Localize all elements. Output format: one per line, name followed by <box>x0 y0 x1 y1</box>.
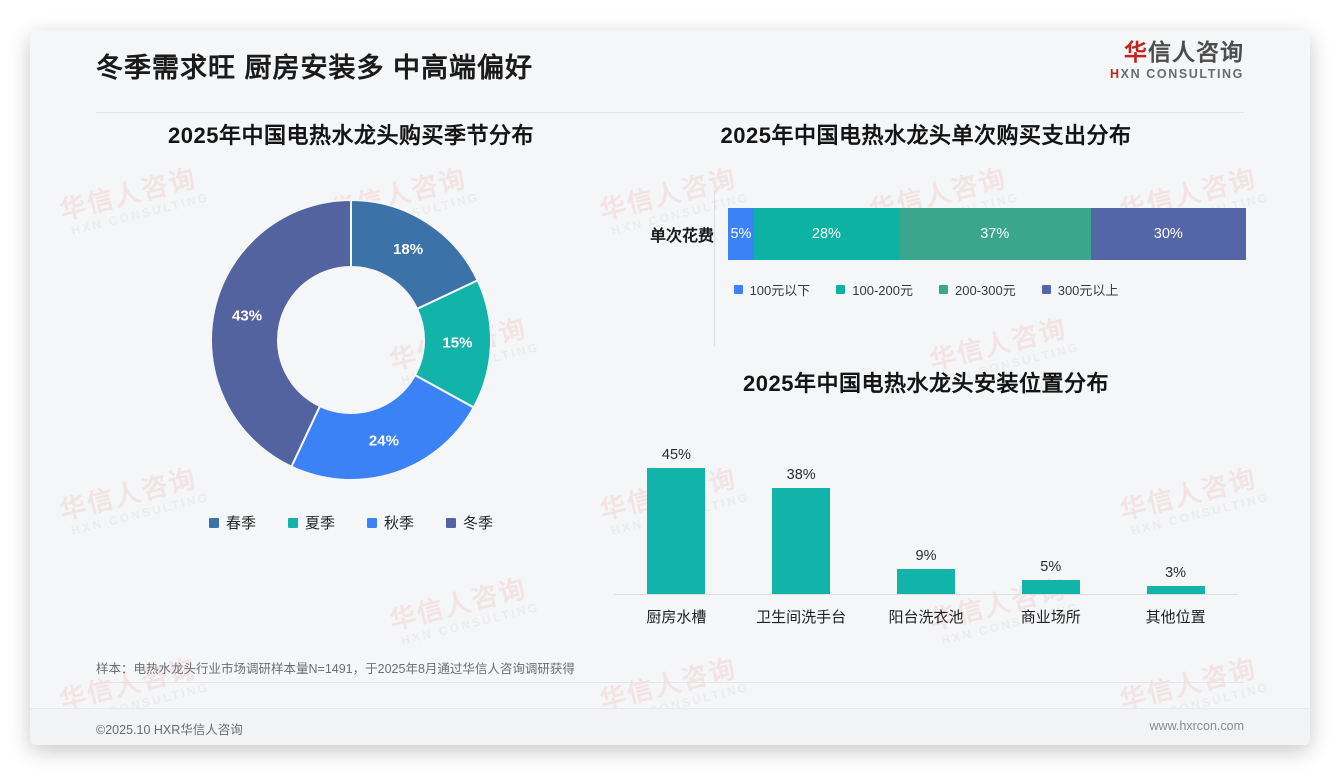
right-column: 2025年中国电热水龙头单次购买支出分布 单次花费 5%28%37%30% 10… <box>606 118 1246 619</box>
slide-body: 2025年中国电热水龙头购买季节分布 18%15%24%43% 春季夏季秋季冬季… <box>30 118 1310 745</box>
install-x-axis: 厨房水槽卫生间洗手台阳台洗衣池商业场所其他位置 <box>614 606 1238 627</box>
spend-bar-track: 5%28%37%30% <box>728 208 1246 260</box>
donut-svg: 18%15%24%43% <box>201 190 501 490</box>
legend-swatch <box>1042 285 1051 294</box>
bar-column-阳台洗衣池[interactable]: 9% <box>871 424 981 594</box>
legend-label: 秋季 <box>384 512 414 533</box>
donut-slice-label: 24% <box>369 432 399 449</box>
season-chart-title: 2025年中国电热水龙头购买季节分布 <box>96 118 606 150</box>
x-axis-label: 阳台洗衣池 <box>871 606 981 627</box>
legend-label: 夏季 <box>305 512 335 533</box>
bar-value-label: 38% <box>787 467 816 483</box>
legend-swatch <box>446 518 456 528</box>
legend-label: 200-300元 <box>955 280 1016 299</box>
donut-slice-label: 18% <box>393 241 423 258</box>
stack-segment-label: 5% <box>730 226 751 242</box>
website-link[interactable]: www.hxrcon.com <box>1150 719 1244 733</box>
bar-value-label: 45% <box>662 447 691 463</box>
stack-segment-label: 37% <box>980 226 1009 242</box>
spend-legend: 100元以下100-200元200-300元300元以上 <box>606 280 1246 299</box>
legend-swatch <box>734 285 743 294</box>
legend-item-春季[interactable]: 春季 <box>209 512 256 533</box>
logo-cn-red: 华 <box>1124 39 1148 65</box>
legend-label: 100元以下 <box>750 280 811 299</box>
x-axis-label: 其他位置 <box>1121 606 1231 627</box>
note-divider <box>96 682 1244 683</box>
logo-chinese: 华信人咨询 <box>1110 40 1244 65</box>
brand-logo: 华信人咨询 HXN CONSULTING <box>1110 40 1244 81</box>
x-axis-label: 厨房水槽 <box>621 606 731 627</box>
bar-rect[interactable] <box>1022 580 1080 594</box>
x-axis-label: 商业场所 <box>996 606 1106 627</box>
bar-value-label: 9% <box>916 548 937 564</box>
donut-slice-label: 15% <box>442 334 472 351</box>
bar-value-label: 3% <box>1165 565 1186 581</box>
logo-en-red: H <box>1110 67 1121 81</box>
install-plot-area: 45%38%9%5%3% <box>614 424 1238 595</box>
spend-legend-item-300元以上[interactable]: 300元以上 <box>1042 280 1119 299</box>
logo-en-rest: XN CONSULTING <box>1121 67 1244 81</box>
stack-segment-200-300元[interactable]: 37% <box>899 208 1091 260</box>
install-column-chart: 45%38%9%5%3% 厨房水槽卫生间洗手台阳台洗衣池商业场所其他位置 <box>606 424 1246 619</box>
stack-segment-label: 30% <box>1154 226 1183 242</box>
header-divider <box>96 112 1244 113</box>
legend-label: 冬季 <box>463 512 493 533</box>
stack-segment-300元以上[interactable]: 30% <box>1091 208 1246 260</box>
bar-column-其他位置[interactable]: 3% <box>1121 424 1231 594</box>
legend-item-冬季[interactable]: 冬季 <box>446 512 493 533</box>
stack-segment-label: 28% <box>812 226 841 242</box>
spend-bar-row: 单次花费 5%28%37%30% <box>606 208 1246 260</box>
bar-value-label: 5% <box>1040 559 1061 575</box>
footer-bar: ©2025.10 HXR华信人咨询 www.hxrcon.com <box>30 708 1310 745</box>
legend-swatch <box>939 285 948 294</box>
logo-cn-rest: 信人咨询 <box>1148 39 1244 65</box>
slide-card: 华信人咨询HXN CONSULTING华信人咨询HXN CONSULTING华信… <box>30 30 1310 745</box>
slide-header: 冬季需求旺 厨房安装多 中高端偏好 华信人咨询 HXN CONSULTING <box>30 30 1310 98</box>
donut-slice-label: 43% <box>232 308 262 325</box>
sample-note: 样本：电热水龙头行业市场调研样本量N=1491，于2025年8月通过华信人咨询调… <box>96 658 575 677</box>
legend-swatch <box>288 518 298 528</box>
install-chart-title: 2025年中国电热水龙头安装位置分布 <box>606 366 1246 398</box>
bar-rect[interactable] <box>1147 586 1205 594</box>
bar-column-厨房水槽[interactable]: 45% <box>621 424 731 594</box>
page-title: 冬季需求旺 厨房安装多 中高端偏好 <box>96 46 533 85</box>
bar-rect[interactable] <box>772 488 830 594</box>
copyright-text: ©2025.10 HXR华信人咨询 <box>96 719 243 738</box>
bar-rect[interactable] <box>647 468 705 594</box>
spend-legend-item-100元以下[interactable]: 100元以下 <box>734 280 811 299</box>
legend-item-秋季[interactable]: 秋季 <box>367 512 414 533</box>
legend-swatch <box>209 518 219 528</box>
bar-column-卫生间洗手台[interactable]: 38% <box>746 424 856 594</box>
spend-row-label: 单次花费 <box>606 222 728 246</box>
legend-label: 300元以上 <box>1058 280 1119 299</box>
season-chart-panel: 2025年中国电热水龙头购买季节分布 18%15%24%43% 春季夏季秋季冬季 <box>96 118 606 533</box>
legend-label: 春季 <box>226 512 256 533</box>
legend-swatch <box>367 518 377 528</box>
stack-segment-100元以下[interactable]: 5% <box>728 208 754 260</box>
bar-rect[interactable] <box>897 569 955 594</box>
spend-legend-item-200-300元[interactable]: 200-300元 <box>939 280 1016 299</box>
spend-stacked-bar-chart: 单次花费 5%28%37%30% 100元以下100-200元200-300元3… <box>606 208 1246 328</box>
season-legend: 春季夏季秋季冬季 <box>96 512 606 533</box>
bar-column-商业场所[interactable]: 5% <box>996 424 1106 594</box>
season-donut-chart: 18%15%24%43% <box>201 190 501 490</box>
logo-english: HXN CONSULTING <box>1110 67 1244 81</box>
legend-label: 100-200元 <box>852 280 913 299</box>
spend-chart-title: 2025年中国电热水龙头单次购买支出分布 <box>606 118 1246 150</box>
spend-legend-item-100-200元[interactable]: 100-200元 <box>836 280 913 299</box>
x-axis-label: 卫生间洗手台 <box>746 606 856 627</box>
legend-item-夏季[interactable]: 夏季 <box>288 512 335 533</box>
stack-segment-100-200元[interactable]: 28% <box>754 208 899 260</box>
legend-swatch <box>836 285 845 294</box>
